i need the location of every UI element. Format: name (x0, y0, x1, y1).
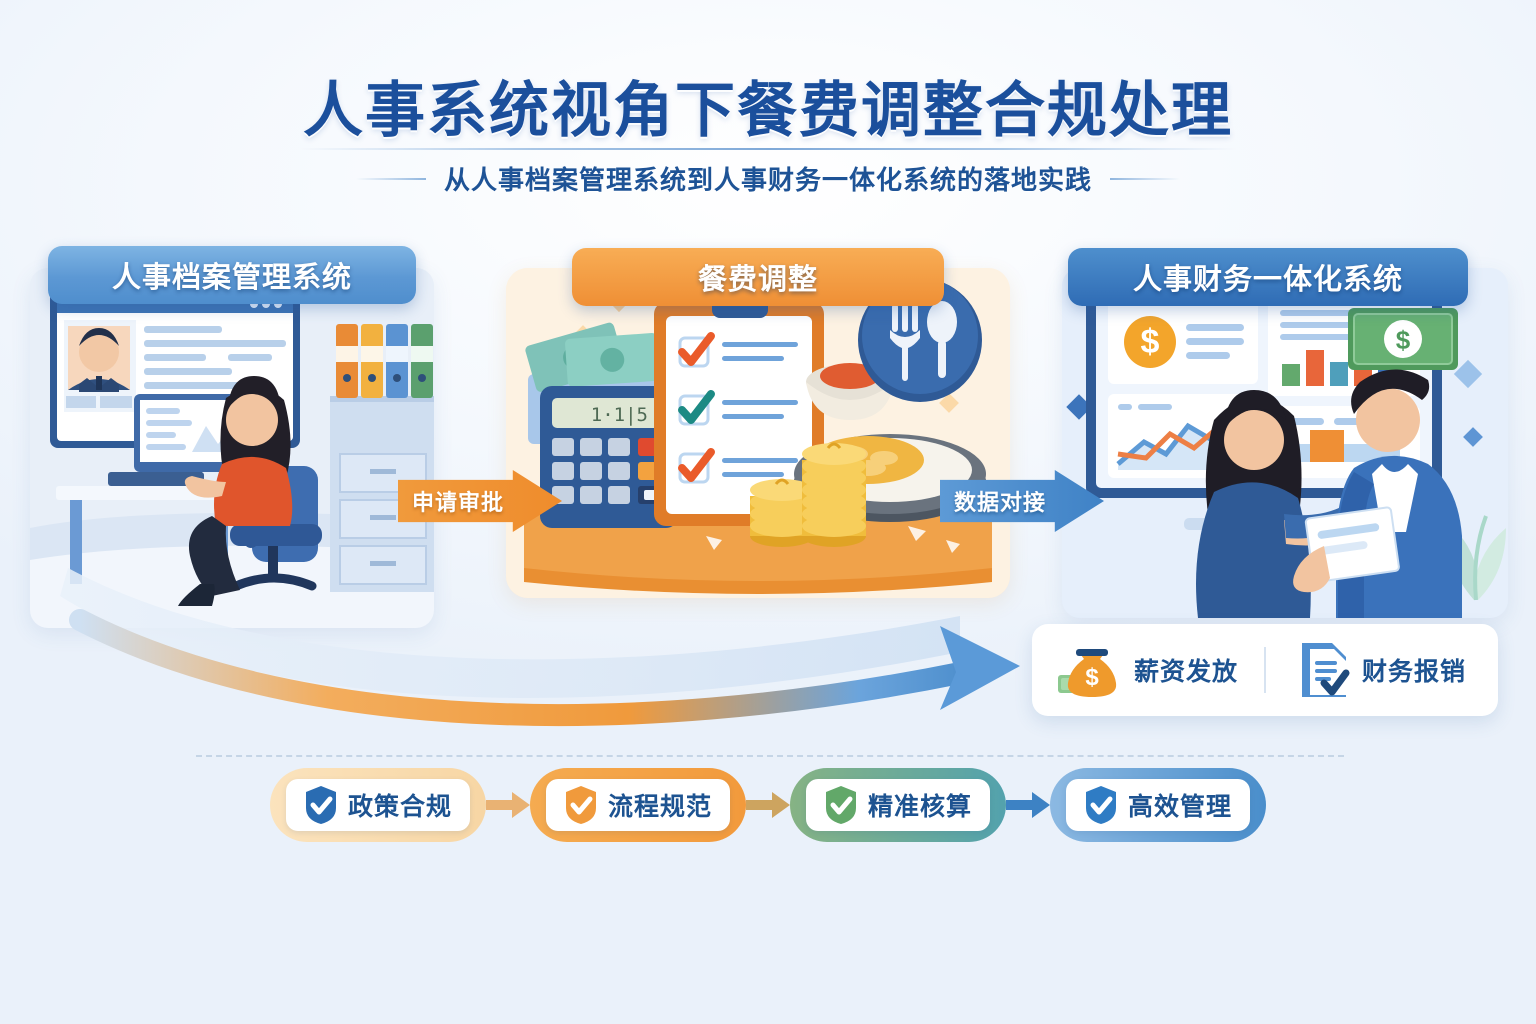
section-divider (196, 755, 1344, 757)
document-check-icon (1298, 639, 1350, 701)
chip-connector-1 (486, 792, 530, 818)
subtitle-row: 从人事档案管理系统到人事财务一体化系统的落地实践 (0, 160, 1536, 197)
chip-policy-compliance: 政策合规 (270, 768, 486, 842)
svg-text:$: $ (1085, 664, 1099, 691)
chip-label-accurate-accounting: 精准核算 (868, 787, 972, 823)
chip-label-policy-compliance: 政策合规 (348, 787, 452, 823)
shield-check-icon (304, 785, 338, 825)
outcome-label-payroll: 薪资发放 (1134, 652, 1238, 688)
panel-header-hr-archive: 人事档案管理系统 (48, 246, 416, 304)
outcome-label-reimbursement: 财务报销 (1362, 652, 1466, 688)
chip-label-efficient-management: 高效管理 (1128, 787, 1232, 823)
chip-connector-3 (1006, 792, 1050, 818)
chip-efficient-management: 高效管理 (1050, 768, 1266, 842)
hr-finance-illustration: $ (1062, 268, 1508, 618)
shield-check-icon (1084, 785, 1118, 825)
subtitle-dash-left (356, 178, 426, 180)
calculator-display-value: 1·1|5 (591, 404, 648, 426)
benefits-chip-row: 政策合规 流程规范 精准核算 (270, 768, 1260, 842)
panel-header-hr-finance: 人事财务一体化系统 (1068, 248, 1468, 306)
chip-process-standard: 流程规范 (530, 768, 746, 842)
outcome-item-payroll: $ 薪资发放 (1032, 641, 1264, 699)
outcome-item-reimbursement: 财务报销 (1266, 639, 1498, 701)
svg-text:$: $ (1396, 325, 1411, 355)
flow-arrow-data-sync-label: 数据对接 (954, 485, 1046, 517)
outcome-card: $ 薪资发放 财务报销 (1032, 624, 1498, 716)
chip-label-process-standard: 流程规范 (608, 787, 712, 823)
shield-check-icon (564, 785, 598, 825)
panel-meal-allowance: 1·1|5 (506, 268, 1010, 598)
money-bag-icon: $ (1058, 641, 1122, 699)
panel-header-meal-allowance: 餐费调整 (572, 248, 944, 306)
chip-accurate-accounting: 精准核算 (790, 768, 1006, 842)
meal-allowance-illustration: 1·1|5 (506, 268, 1010, 598)
process-sweep-arrow (60, 560, 1070, 730)
subtitle-dash-right (1110, 178, 1180, 180)
title-divider (300, 148, 1236, 150)
panel-hr-finance: $ (1062, 268, 1508, 618)
page-subtitle: 从人事档案管理系统到人事财务一体化系统的落地实践 (444, 160, 1092, 197)
infographic-canvas: 人事系统视角下餐费调整合规处理 从人事档案管理系统到人事财务一体化系统的落地实践 (0, 0, 1536, 1024)
shield-check-icon (824, 785, 858, 825)
svg-text:$: $ (1141, 323, 1160, 361)
page-title: 人事系统视角下餐费调整合规处理 (0, 62, 1536, 149)
chip-connector-2 (746, 792, 790, 818)
flow-arrow-apply-approve-label: 申请审批 (412, 485, 504, 517)
